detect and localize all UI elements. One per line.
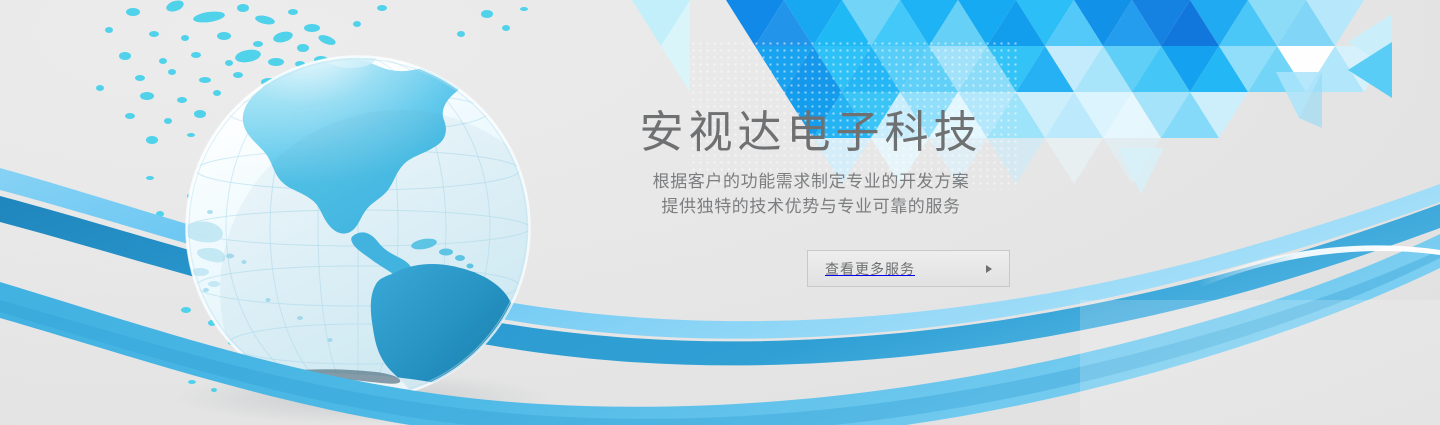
hero-copy: 安视达电子科技 根据客户的功能需求制定专业的开发方案 提供独特的技术优势与专业可…: [596, 104, 1026, 219]
triangle-right-icon: [986, 265, 992, 273]
page-title: 安视达电子科技: [596, 104, 1026, 162]
subtitle-line-2: 提供独特的技术优势与专业可靠的服务: [596, 194, 1026, 219]
view-more-services-button[interactable]: 查看更多服务: [807, 250, 1010, 287]
view-more-services-label: 查看更多服务: [825, 259, 986, 279]
subtitle-line-1: 根据客户的功能需求制定专业的开发方案: [596, 169, 1026, 194]
hero-banner: 安视达电子科技 根据客户的功能需求制定专业的开发方案 提供独特的技术优势与专业可…: [0, 0, 1440, 425]
